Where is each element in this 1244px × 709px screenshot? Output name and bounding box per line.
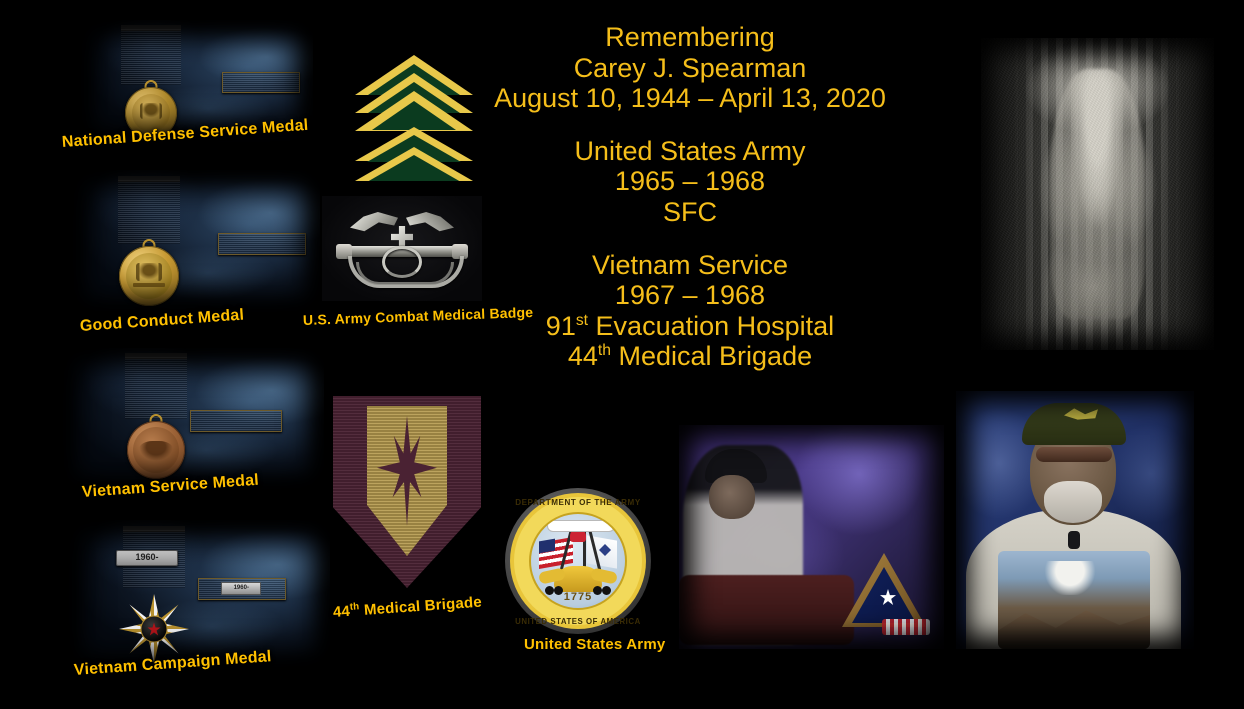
memorial-branch: United States Army: [430, 136, 950, 167]
memorial-dates: August 10, 1944 – April 13, 2020: [430, 83, 950, 114]
brigade-ordinal-text: th: [598, 342, 611, 359]
seal-ring-text-bottom: UNITED STATES OF AMERICA: [505, 488, 651, 634]
label-united-states-army: United States Army: [524, 636, 665, 653]
hospital-number: 91: [546, 311, 576, 341]
brigade-number: 44: [332, 603, 350, 621]
memorial-deployment-years: 1967 – 1968: [430, 280, 950, 311]
hospital-text: Evacuation Hospital: [596, 311, 835, 341]
hospital-ordinal: st: [576, 312, 588, 329]
memorial-text-block: Remembering Carey J. Spearman August 10,…: [430, 22, 950, 372]
memorial-deployment-title: Vietnam Service: [430, 250, 950, 281]
44th-medical-brigade-patch: [333, 396, 481, 588]
brigade-number-text: 44: [568, 341, 598, 371]
department-of-the-army-seal: 1775 DEPARTMENT OF THE ARMY UNITED STATE…: [505, 488, 651, 634]
photo-grain: [981, 38, 1214, 350]
memorial-service-years: 1965 – 1968: [430, 166, 950, 197]
memorial-unit-brigade: 44th Medical Brigade: [430, 341, 950, 372]
medal-plaque-good-conduct: [72, 170, 320, 313]
brigade-ordinal: th: [349, 601, 359, 613]
memorial-heading: Remembering: [430, 22, 950, 53]
interview-flag-photo: [679, 425, 944, 649]
medal-plaque-vietnam-service: [62, 348, 324, 490]
medal-plaque-vietnam-campaign: 1960- 1960-: [68, 520, 330, 668]
medical-cross-icon: [391, 226, 413, 248]
label-44th-medical-brigade: 44th Medical Brigade: [332, 593, 482, 621]
young-soldier-photo: [981, 38, 1214, 350]
memorial-collage: National Defense Service Medal Good Cond…: [0, 0, 1244, 709]
veteran-portrait-photo: [956, 391, 1194, 649]
brigade-text-label: Medical Brigade: [619, 341, 813, 371]
memorial-rank: SFC: [430, 197, 950, 228]
brigade-text: Medical Brigade: [363, 594, 482, 619]
memorial-name: Carey J. Spearman: [430, 53, 950, 84]
eagle-print: [998, 551, 1150, 649]
memorial-unit-hospital: 91st Evacuation Hospital: [430, 311, 950, 342]
